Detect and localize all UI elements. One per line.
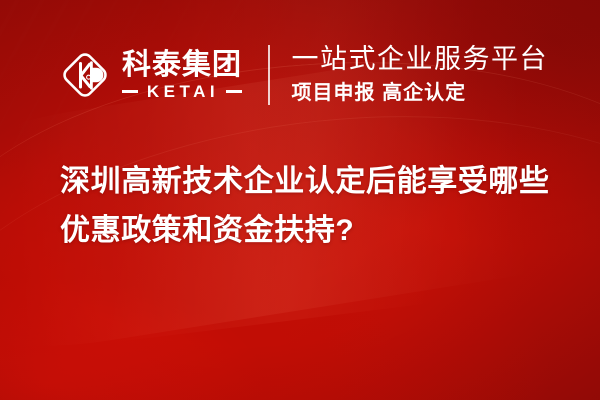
logo-dash-right [226,90,242,93]
header-tagline: 一站式企业服务平台 项目申报 高企认定 [292,44,549,106]
header-divider [268,45,270,105]
tagline-secondary: 项目申报 高企认定 [292,80,549,106]
logo-name-en: KETAI [138,83,226,100]
promo-banner: 科泰集团 KETAI 一站式企业服务平台 项目申报 高企认定 深圳高新技术企业认… [0,0,600,400]
banner-header: 科泰集团 KETAI 一站式企业服务平台 项目申报 高企认定 [58,38,548,112]
logo-wordmark: 科泰集团 KETAI [122,50,242,100]
banner-headline: 深圳高新技术企业认定后能享受哪些优惠政策和资金扶持? [60,158,560,255]
logo-dash-left [122,90,138,93]
logo-name-en-row: KETAI [122,83,242,100]
logo-name-cn: 科泰集团 [122,50,242,80]
ketai-diamond-emblem-icon [58,48,112,102]
tagline-primary: 一站式企业服务平台 [292,44,549,76]
